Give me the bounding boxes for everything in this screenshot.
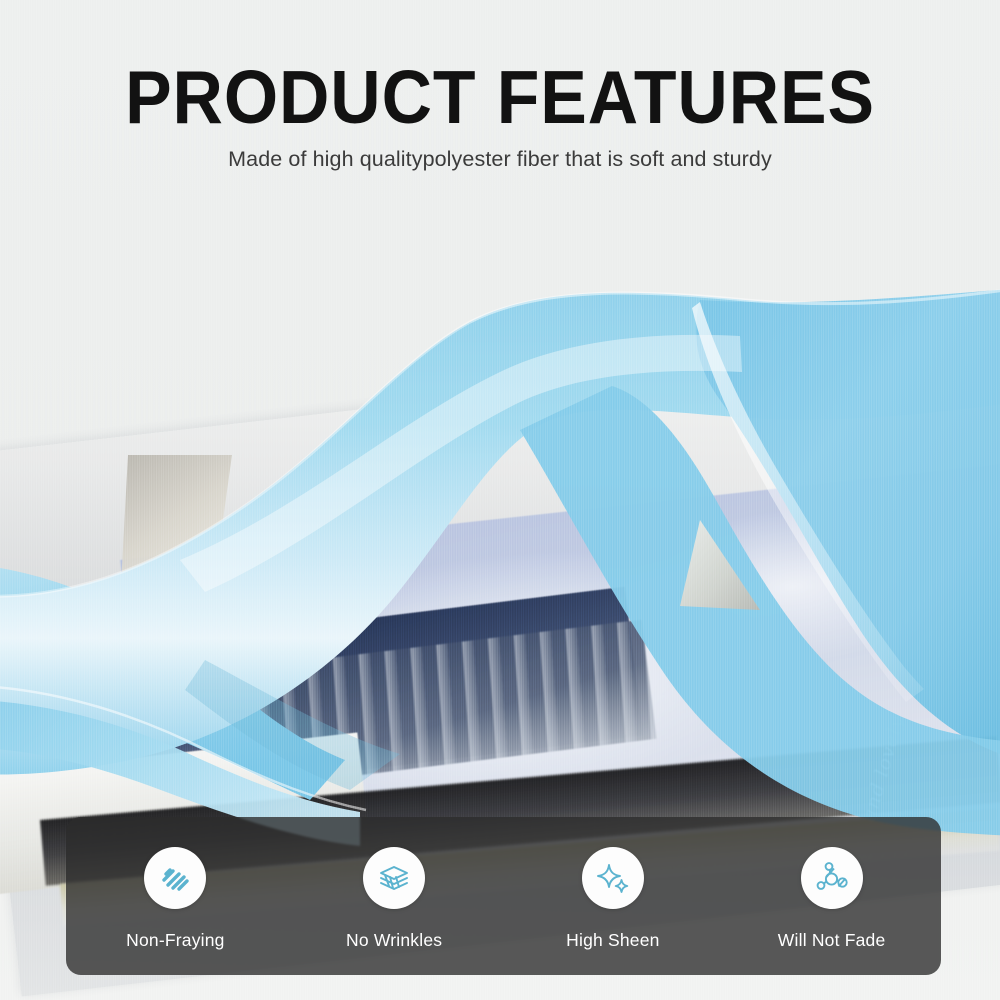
molecule-icon [801, 847, 863, 909]
page-subtitle: Made of high qualitypolyester fiber that… [0, 136, 1000, 172]
feature-label: No Wrinkles [346, 929, 442, 951]
header: PRODUCT FEATURES Made of high qualitypol… [0, 0, 1000, 190]
feature-bar: Non-Fraying No Wrinkles [66, 817, 941, 975]
feature-item-no-wrinkles: No Wrinkles [285, 817, 504, 951]
stacked-flat-sheets-icon [363, 847, 425, 909]
feature-label: High Sheen [566, 929, 659, 951]
feature-item-non-fraying: Non-Fraying [66, 817, 285, 951]
feature-item-high-sheen: High Sheen [504, 817, 723, 951]
product-feature-banner: and lovely [0, 0, 1000, 1000]
fabric-weave-stripes-icon [144, 847, 206, 909]
feature-label: Non-Fraying [126, 929, 224, 951]
sparkle-stars-icon [582, 847, 644, 909]
page-title: PRODUCT FEATURES [35, 0, 965, 136]
feature-item-will-not-fade: Will Not Fade [722, 817, 941, 951]
feature-label: Will Not Fade [778, 929, 886, 951]
